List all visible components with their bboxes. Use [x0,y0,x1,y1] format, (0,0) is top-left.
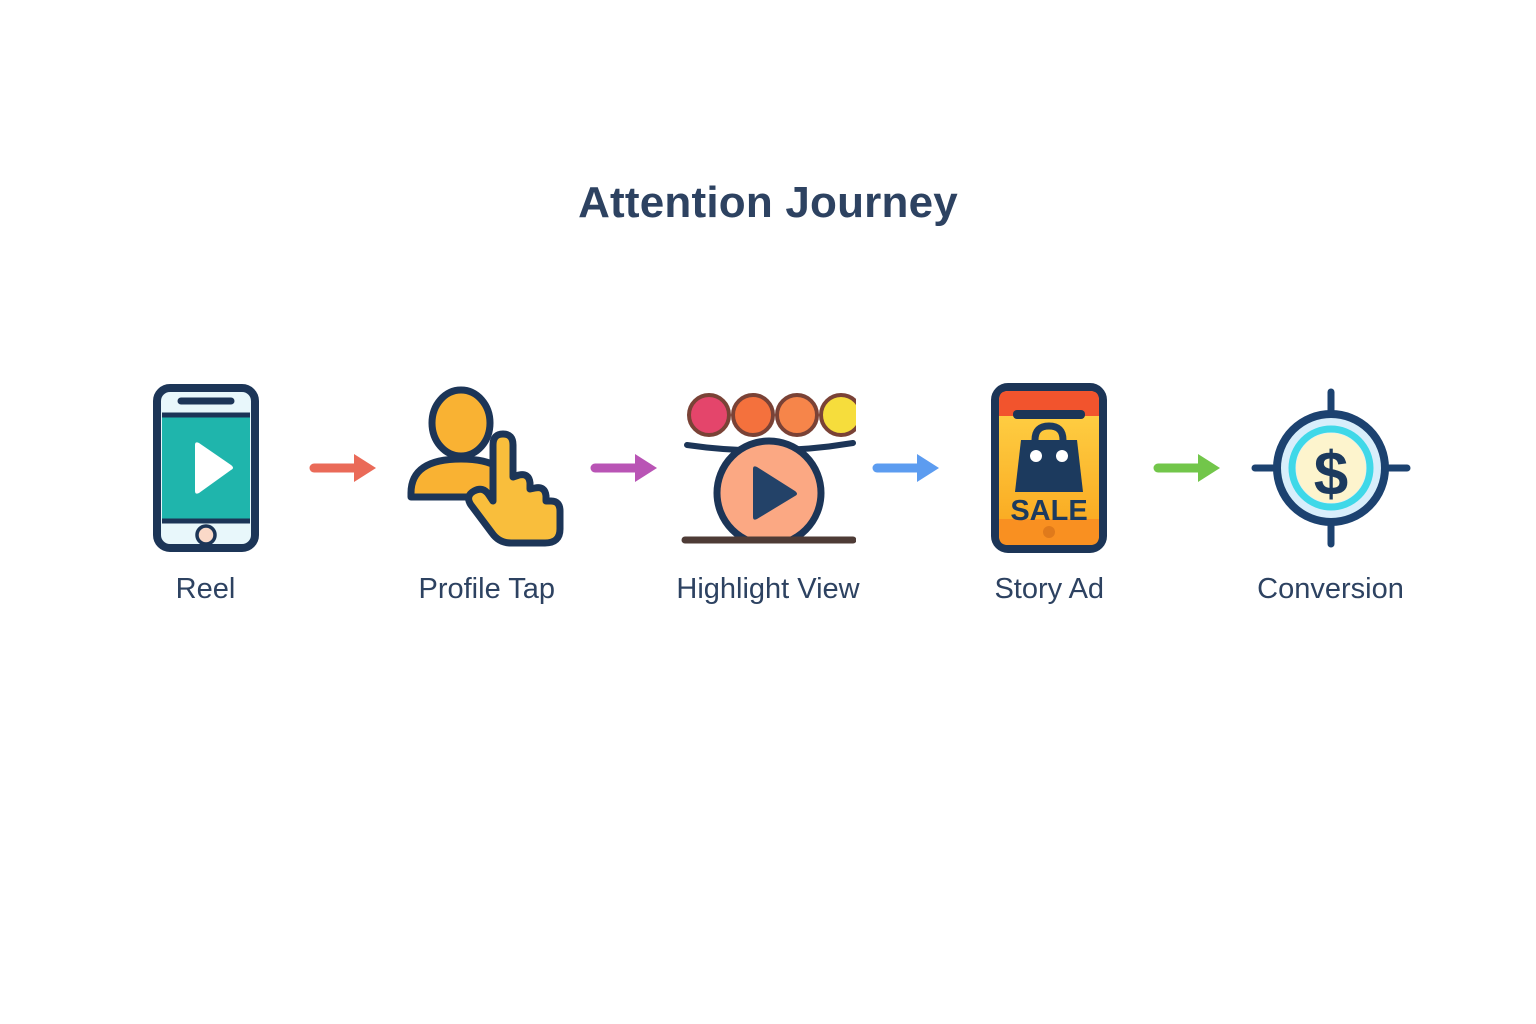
attention-journey-flow: Reel Profile Tap [118,378,1418,638]
diagram-canvas: Attention Journey Reel [0,0,1536,1024]
flow-step-highlight-view[interactable]: Highlight View [681,378,856,606]
page-title: Attention Journey [0,178,1536,228]
right-arrow-icon [308,448,384,488]
flow-arrow-1 [299,378,394,558]
flow-arrow-4 [1142,378,1237,558]
flow-step-label-conversion: Conversion [1257,574,1404,606]
flow-arrow-2 [580,378,675,558]
phone-sale-icon: SALE [962,378,1137,558]
right-arrow-icon [589,448,665,488]
flow-step-profile-tap[interactable]: Profile Tap [399,378,574,606]
flow-step-story-ad[interactable]: SALE Story Ad [962,378,1137,606]
person-tap-icon [399,378,574,558]
flow-step-conversion[interactable]: $ Conversion [1243,378,1418,606]
highlight-reel-icon [681,378,856,558]
target-dollar-icon: $ [1243,378,1418,558]
sale-text: SALE [1011,495,1088,527]
flow-step-label-highlight-view: Highlight View [676,574,859,606]
right-arrow-icon [871,448,947,488]
dollar-sign: $ [1313,440,1347,509]
flow-arrow-3 [861,378,956,558]
flow-step-label-story-ad: Story Ad [994,574,1104,606]
right-arrow-icon [1152,448,1228,488]
phone-play-icon [118,378,293,558]
flow-step-label-profile-tap: Profile Tap [419,574,556,606]
flow-step-label-reel: Reel [176,574,236,606]
flow-step-reel[interactable]: Reel [118,378,293,606]
